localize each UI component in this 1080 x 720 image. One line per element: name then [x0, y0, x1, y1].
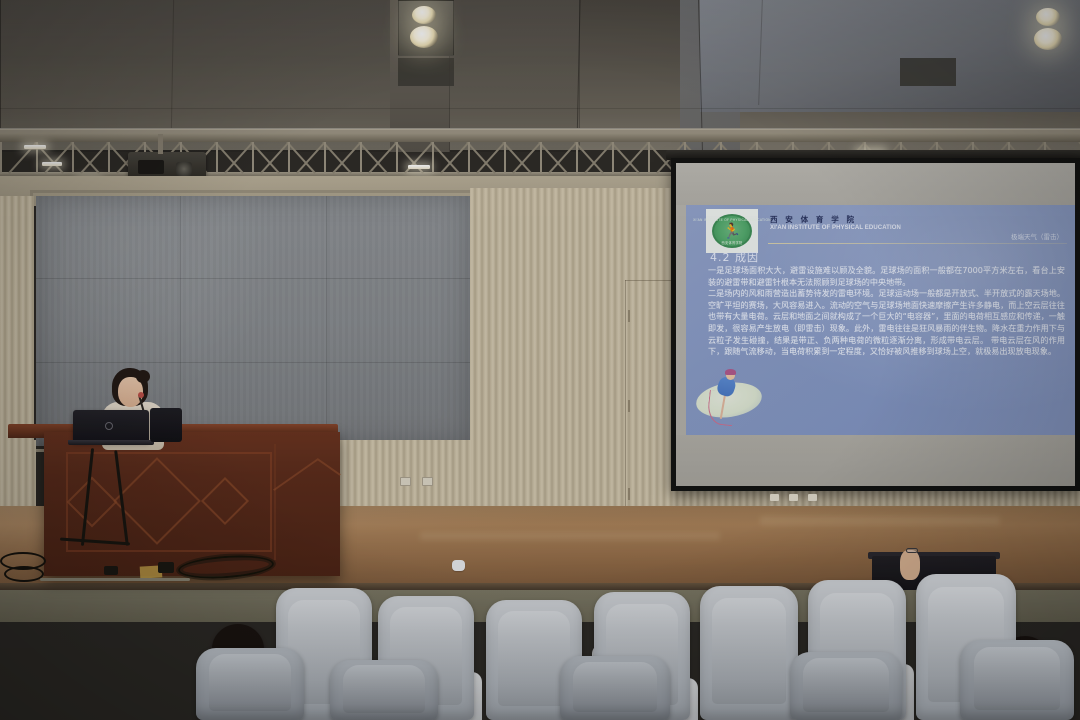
slide-section-title: 4.2 成因 — [710, 249, 759, 265]
truss-downlight — [408, 165, 430, 169]
presenter-hair-bun — [136, 370, 150, 383]
slide-topic-label: 极端天气（雷击） — [1011, 231, 1063, 241]
door-handle-slot[interactable] — [628, 310, 630, 322]
truss-post — [0, 142, 2, 174]
audience-seat[interactable] — [790, 652, 902, 720]
screen-blank-bottom — [676, 435, 1075, 486]
truss-post — [108, 142, 110, 174]
truss-post — [288, 142, 290, 174]
truss-post — [540, 142, 542, 174]
slide-body-text: 一是足球场面积大大，避雷设施难以顾及全貌。足球场的面积一般都在7000平方米左右… — [708, 265, 1065, 358]
door-hinge-slot — [628, 400, 630, 412]
truss-post — [396, 142, 398, 174]
wood-slat-wall-center — [470, 188, 672, 518]
slide-institution-en: XI'AN INSTITUTE OF PHYSICAL EDUCATION — [770, 225, 901, 231]
slide-paragraph-2: 二是场内的风和雨营造出蓄势待发的雷电环境。足球运动场一般都是开放式、半开放式的露… — [708, 288, 1065, 358]
slide-logo-plate: XI'AN INSTITUTE OF PHYSICAL EDUCATION 🏃 … — [706, 209, 758, 253]
deco-leg-shape — [720, 393, 726, 419]
audience-seating — [0, 520, 1080, 720]
truss-post — [612, 142, 614, 174]
truss-post — [252, 142, 254, 174]
ceiling-downlight — [412, 6, 436, 24]
deco-disc-shape — [694, 379, 764, 422]
truss-post — [576, 142, 578, 174]
screen-button[interactable] — [808, 494, 817, 501]
truss-post — [432, 142, 434, 174]
running-athlete-icon: 🏃 — [723, 224, 742, 239]
audience-seat[interactable] — [960, 640, 1074, 720]
student-with-glasses — [906, 548, 918, 553]
gymnast-ribbon-illustration — [692, 367, 768, 429]
audience-seat[interactable] — [330, 660, 438, 720]
lecture-hall-photo: XI'AN INSTITUTE OF PHYSICAL EDUCATION 🏃 … — [0, 0, 1080, 720]
truss-post — [468, 142, 470, 174]
truss-downlight — [42, 162, 62, 166]
screen-control-buttons[interactable] — [770, 494, 817, 501]
microphone-icon — [138, 392, 144, 398]
slide-institution-cn: 西 安 体 育 学 院 — [770, 214, 857, 225]
truss-post — [504, 142, 506, 174]
screen-blank-top — [676, 163, 1075, 205]
student-with-face-mask — [452, 560, 465, 571]
seal-arc-bottom-text: 西安体育学院 — [722, 240, 743, 245]
wall-outlet[interactable] — [422, 477, 433, 486]
wall-outlet[interactable] — [400, 477, 411, 486]
deco-head-shape — [726, 371, 735, 380]
deco-body-shape — [715, 375, 737, 398]
ceiling-downlight — [410, 26, 438, 48]
institute-seal-icon: XI'AN INSTITUTE OF PHYSICAL EDUCATION 🏃 … — [712, 214, 752, 248]
concealed-door-edge — [625, 280, 626, 520]
projected-slide: XI'AN INSTITUTE OF PHYSICAL EDUCATION 🏃 … — [686, 205, 1075, 435]
deco-hair-shape — [725, 369, 736, 375]
laptop-brand-logo — [105, 422, 113, 430]
projector-lens — [176, 162, 192, 176]
truss-downlight — [24, 145, 46, 149]
slide-paragraph-1: 一是足球场面积大大，避雷设施难以顾及全貌。足球场的面积一般都在7000平方米左右… — [708, 265, 1065, 288]
door-hinge-slot — [628, 488, 630, 500]
truss-post — [360, 142, 362, 174]
audience-seat[interactable] — [560, 656, 670, 720]
screen-button[interactable] — [789, 494, 798, 501]
truss-post — [72, 142, 74, 174]
truss-post — [648, 142, 650, 174]
truss-post — [324, 142, 326, 174]
seal-arc-top-text: XI'AN INSTITUTE OF PHYSICAL EDUCATION — [693, 218, 771, 222]
audience-seat[interactable] — [196, 648, 304, 720]
screen-button[interactable] — [770, 494, 779, 501]
ceiling-downlight — [1036, 8, 1060, 26]
presenter-laptop[interactable] — [73, 410, 149, 442]
projection-screen: XI'AN INSTITUTE OF PHYSICAL EDUCATION 🏃 … — [671, 158, 1080, 491]
truss-post — [216, 142, 218, 174]
confidence-monitor — [150, 408, 182, 442]
audience-face-profile — [900, 550, 920, 580]
deco-ribbon-shape — [706, 390, 735, 427]
audience-seat[interactable] — [700, 586, 798, 720]
ceiling-downlight — [1034, 28, 1062, 50]
slide-header-rule — [768, 243, 1067, 244]
laptop-keyboard-base[interactable] — [68, 440, 154, 445]
concealed-door-top — [625, 280, 672, 281]
